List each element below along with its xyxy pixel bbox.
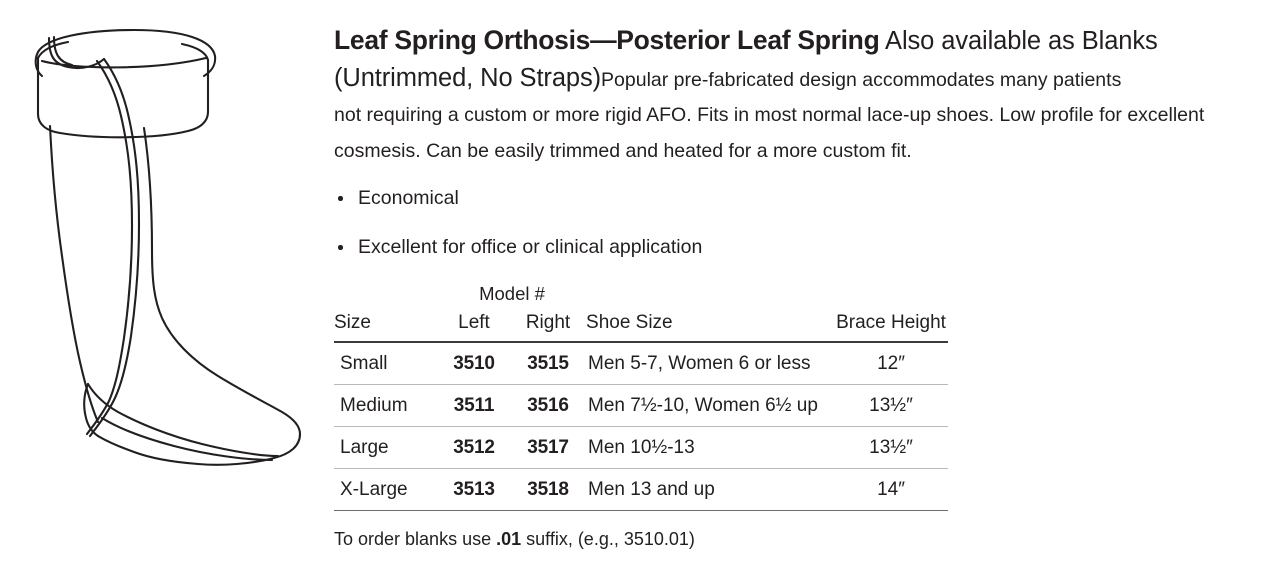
sizing-table: Model # Size Left Right Shoe Size Brace … [334, 283, 948, 511]
product-catalog-page: Leaf Spring Orthosis—Posterior Leaf Spri… [0, 0, 1278, 565]
footnote-suffix: suffix, (e.g., 3510.01) [521, 529, 695, 549]
spacer-cell [334, 283, 438, 312]
cell-size: Small [334, 342, 438, 385]
cell-model-left: 3511 [438, 385, 510, 427]
product-headline: Leaf Spring Orthosis—Posterior Leaf Spri… [334, 22, 1268, 98]
column-header-right: Right [510, 312, 586, 342]
list-item: Economical [334, 185, 1268, 211]
feature-label: Economical [358, 187, 459, 209]
cell-shoe-size: Men 10½-13 [586, 427, 834, 469]
cell-size: Medium [334, 385, 438, 427]
footnote-emphasis: .01 [496, 529, 521, 549]
table-group-header-row: Model # [334, 283, 948, 312]
column-header-size: Size [334, 312, 438, 342]
product-description: not requiring a custom or more rigid AFO… [334, 98, 1268, 169]
cell-brace-height: 13½″ [834, 427, 948, 469]
cell-brace-height: 14″ [834, 469, 948, 511]
feature-label: Excellent for office or clinical applica… [358, 236, 702, 258]
cell-model-right: 3518 [510, 469, 586, 511]
cell-shoe-size: Men 13 and up [586, 469, 834, 511]
cell-model-right: 3517 [510, 427, 586, 469]
spacer-cell [586, 283, 834, 312]
table-header-row: Size Left Right Shoe Size Brace Height [334, 312, 948, 342]
list-item: Excellent for office or clinical applica… [334, 234, 1268, 260]
cell-model-left: 3512 [438, 427, 510, 469]
footnote-prefix: To order blanks use [334, 529, 496, 549]
table-row: X-Large 3513 3518 Men 13 and up 14″ [334, 469, 948, 511]
product-content: Leaf Spring Orthosis—Posterior Leaf Spri… [334, 22, 1268, 551]
cell-shoe-size: Men 7½-10, Women 6½ up [586, 385, 834, 427]
column-header-shoe-size: Shoe Size [586, 312, 834, 342]
table-row: Small 3510 3515 Men 5-7, Women 6 or less… [334, 342, 948, 385]
product-description-run: Popular pre-fabricated design accommodat… [601, 69, 1121, 91]
table-row: Medium 3511 3516 Men 7½-10, Women 6½ up … [334, 385, 948, 427]
column-header-brace-height: Brace Height [834, 312, 948, 342]
spacer-cell [834, 283, 948, 312]
cell-size: X-Large [334, 469, 438, 511]
sizing-table-wrapper: Model # Size Left Right Shoe Size Brace … [334, 283, 948, 511]
bullet-icon [338, 245, 343, 250]
cell-size: Large [334, 427, 438, 469]
cell-model-right: 3515 [510, 342, 586, 385]
bullet-icon [338, 196, 343, 201]
cell-brace-height: 13½″ [834, 385, 948, 427]
order-footnote: To order blanks use .01 suffix, (e.g., 3… [334, 527, 1268, 551]
column-header-left: Left [438, 312, 510, 342]
table-row: Large 3512 3517 Men 10½-13 13½″ [334, 427, 948, 469]
feature-list: Economical Excellent for office or clini… [334, 185, 1268, 260]
model-number-group-header: Model # [438, 283, 586, 312]
posterior-leaf-spring-afo-illustration [16, 18, 316, 508]
cell-model-left: 3513 [438, 469, 510, 511]
sizing-table-body: Small 3510 3515 Men 5-7, Women 6 or less… [334, 342, 948, 511]
cell-brace-height: 12″ [834, 342, 948, 385]
cell-model-right: 3516 [510, 385, 586, 427]
cell-model-left: 3510 [438, 342, 510, 385]
cell-shoe-size: Men 5-7, Women 6 or less [586, 342, 834, 385]
product-title-regular-1: Also available as [885, 27, 1075, 55]
product-title-bold: Leaf Spring Orthosis—Posterior Leaf Spri… [334, 25, 879, 55]
